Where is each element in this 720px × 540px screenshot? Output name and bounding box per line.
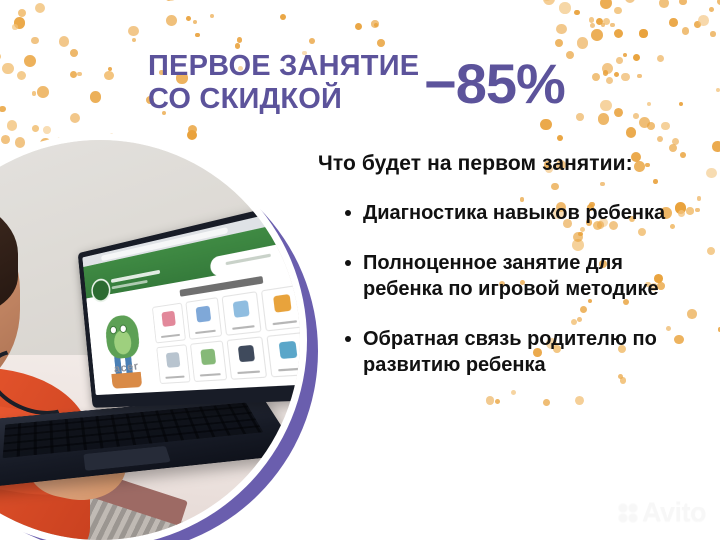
confetti-dot — [188, 125, 197, 134]
confetti-dot — [166, 15, 177, 26]
confetti-dot — [77, 72, 81, 76]
site-card — [190, 340, 227, 382]
confetti-dot — [603, 70, 609, 76]
site-card — [227, 336, 268, 380]
confetti-dot — [104, 71, 113, 80]
photo-circle: acer — [0, 140, 300, 540]
confetti-dot — [542, 0, 552, 1]
confetti-dot — [37, 86, 49, 98]
confetti-dot — [625, 0, 636, 3]
confetti-dot — [591, 29, 603, 41]
confetti-dot — [377, 39, 385, 47]
confetti-dot — [193, 20, 197, 24]
confetti-dot — [210, 14, 215, 19]
subheading: Что будет на первом занятии: — [318, 152, 633, 176]
confetti-dot — [707, 247, 715, 255]
confetti-dot — [0, 106, 6, 112]
confetti-dot — [371, 20, 378, 27]
confetti-dot — [657, 136, 663, 142]
confetti-dot — [590, 23, 595, 28]
confetti-dot — [551, 183, 559, 191]
headline-line-2: СО СКИДКОЙ — [148, 83, 428, 116]
confetti-dot — [694, 21, 701, 28]
confetti-dot — [31, 37, 38, 44]
confetti-dot — [645, 163, 649, 167]
confetti-dot — [195, 33, 200, 38]
confetti-dot — [709, 7, 714, 12]
confetti-dot — [675, 202, 687, 214]
confetti-dot — [669, 18, 677, 26]
avito-logo-icon — [619, 504, 637, 522]
confetti-dot — [637, 74, 642, 79]
confetti-dot — [559, 2, 570, 13]
confetti-dot — [543, 0, 555, 5]
confetti-dot — [600, 182, 604, 186]
confetti-dot — [621, 73, 629, 81]
confetti-dot — [710, 31, 715, 36]
confetti-dot — [70, 71, 77, 78]
confetti-dot — [639, 117, 650, 128]
benefits-list: Диагностика навыков ребенка Полноценное … — [340, 200, 670, 402]
confetti-dot — [557, 135, 563, 141]
confetti-dot — [540, 119, 552, 131]
confetti-dot — [672, 138, 680, 146]
confetti-dot — [598, 113, 609, 124]
confetti-dot — [614, 29, 624, 39]
confetti-dot — [70, 49, 78, 57]
confetti-dot — [187, 130, 197, 140]
confetti-dot — [18, 9, 26, 17]
confetti-dot — [355, 23, 363, 31]
site-card — [261, 285, 300, 332]
confetti-dot — [678, 210, 686, 218]
confetti-dot — [577, 37, 588, 48]
benefit-item: Обратная связь родителю по развитию ребе… — [340, 326, 670, 378]
confetti-dot — [108, 67, 112, 71]
confetti-dot — [623, 53, 627, 57]
site-card — [222, 291, 262, 336]
confetti-dot — [697, 196, 702, 201]
avito-watermark-text: Avito — [642, 497, 706, 528]
confetti-dot — [634, 161, 645, 172]
confetti-dot — [603, 18, 610, 25]
confetti-dot — [566, 51, 574, 59]
confetti-dot — [237, 37, 242, 42]
confetti-dot — [639, 29, 647, 37]
confetti-dot — [24, 55, 36, 67]
discount-badge: −85% — [424, 54, 565, 114]
confetti-dot — [686, 207, 693, 214]
confetti-dot — [679, 0, 687, 5]
confetti-dot — [682, 27, 690, 35]
confetti-dot — [17, 71, 26, 80]
confetti-dot — [647, 122, 655, 130]
confetti-dot — [669, 144, 677, 152]
site-card — [185, 297, 222, 340]
dinosaur-mascot-icon — [98, 302, 154, 389]
confetti-dot — [633, 54, 640, 61]
site-card — [266, 332, 300, 378]
benefit-item: Диагностика навыков ребенка — [340, 200, 670, 226]
confetti-dot — [166, 0, 171, 1]
confetti-dot — [674, 335, 683, 344]
promo-poster: acer ПЕРВОЕ ЗАНЯТИЕ СО СКИДКОЙ −85% Что … — [0, 0, 720, 540]
confetti-dot — [235, 43, 240, 48]
confetti-dot — [7, 120, 18, 131]
confetti-dot — [679, 102, 683, 106]
headline: ПЕРВОЕ ЗАНЯТИЕ СО СКИДКОЙ — [148, 50, 428, 116]
confetti-dot — [670, 224, 675, 229]
site-card-grid — [152, 285, 300, 384]
confetti-dot — [309, 38, 315, 44]
confetti-dot — [600, 100, 611, 111]
confetti-dot — [592, 73, 600, 81]
confetti-dot — [600, 0, 612, 9]
confetti-dot — [14, 17, 26, 29]
confetti-dot — [626, 127, 636, 137]
confetti-dot — [633, 113, 639, 119]
confetti-dot — [614, 7, 622, 15]
confetti-dot — [712, 141, 720, 151]
photo-content: acer — [0, 140, 300, 540]
confetti-dot — [610, 23, 614, 27]
confetti-dot — [661, 122, 669, 130]
confetti-dot — [109, 133, 114, 138]
confetti-dot — [647, 102, 651, 106]
laptop-trackpad — [83, 446, 170, 471]
confetti-dot — [606, 77, 613, 84]
confetti-dot — [589, 17, 594, 22]
confetti-dot — [657, 55, 664, 62]
confetti-dot — [695, 208, 700, 213]
confetti-dot — [698, 15, 709, 26]
confetti-dot — [165, 0, 177, 1]
confetti-dot — [556, 24, 566, 34]
confetti-dot — [576, 113, 584, 121]
confetti-dot — [32, 91, 36, 95]
confetti-dot — [614, 108, 623, 117]
confetti-dot — [128, 26, 138, 36]
confetti-dot — [32, 125, 39, 132]
confetti-dot — [132, 38, 136, 42]
site-card — [156, 344, 190, 384]
confetti-dot — [70, 113, 80, 123]
confetti-dot — [706, 168, 717, 179]
confetti-dot — [601, 23, 605, 27]
confetti-dot — [659, 0, 669, 8]
confetti-dot — [616, 57, 623, 64]
confetti-dot — [555, 39, 563, 47]
site-logo-icon — [90, 277, 111, 304]
confetti-dot — [2, 63, 13, 74]
confetti-dot — [43, 126, 51, 134]
confetti-dot — [280, 14, 286, 20]
confetti-dot — [602, 63, 613, 74]
confetti-dot — [716, 88, 720, 92]
confetti-dot — [35, 3, 45, 13]
confetti-dot — [574, 10, 580, 16]
confetti-dot — [687, 309, 696, 318]
confetti-dot — [653, 179, 658, 184]
confetti-dot — [59, 36, 70, 47]
confetti-dot — [90, 91, 101, 102]
confetti-dot — [12, 24, 18, 30]
headline-line-1: ПЕРВОЕ ЗАНЯТИЕ — [148, 50, 428, 83]
confetti-dot — [677, 208, 681, 212]
benefit-item: Полноценное занятие для ребенка по игров… — [340, 250, 670, 302]
confetti-dot — [596, 18, 603, 25]
confetti-dot — [680, 152, 686, 158]
confetti-dot — [374, 23, 378, 27]
avito-watermark: Avito — [619, 497, 706, 528]
confetti-dot — [614, 72, 619, 77]
confetti-dot — [186, 16, 191, 21]
confetti-dot — [0, 53, 1, 60]
site-card — [152, 303, 186, 344]
